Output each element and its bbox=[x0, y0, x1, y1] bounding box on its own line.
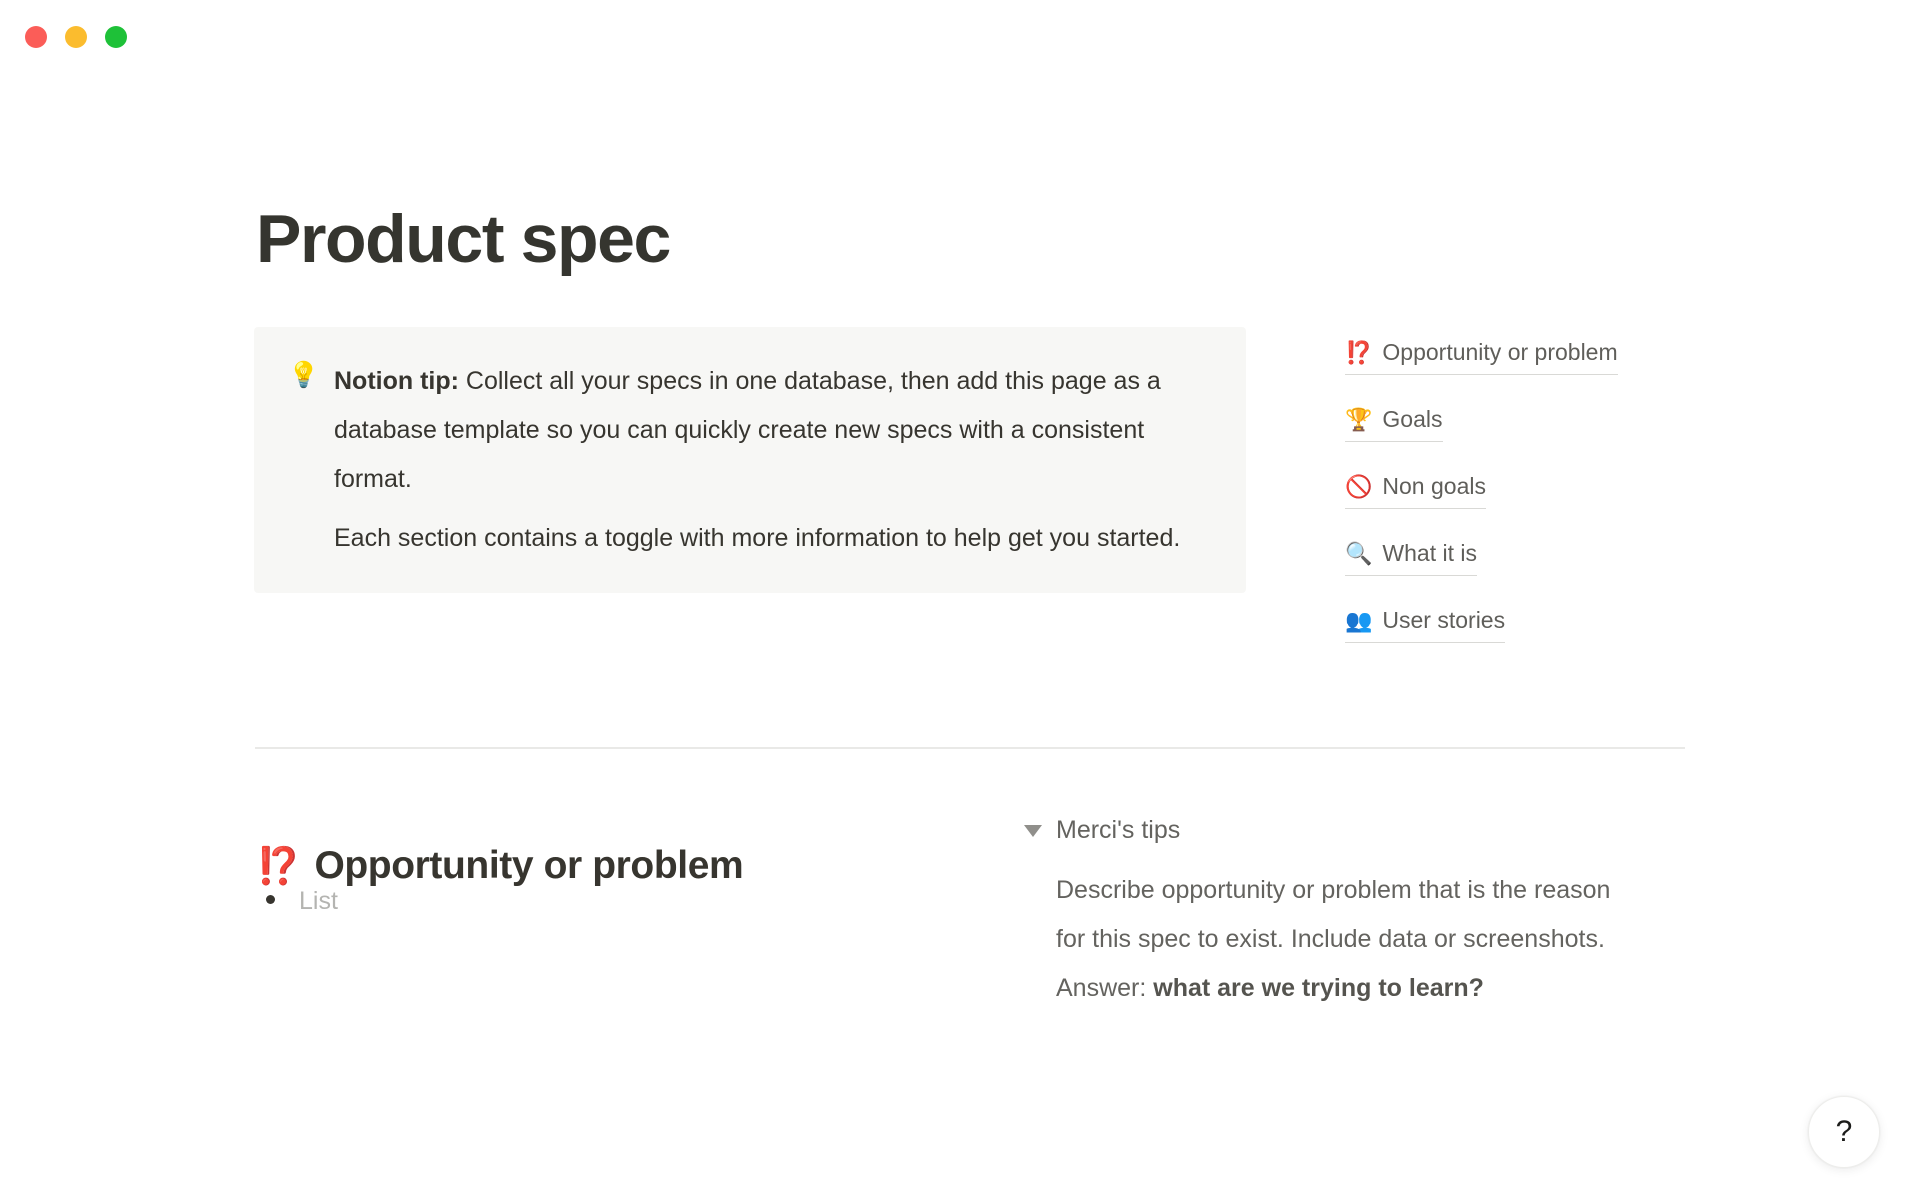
toc-item-opportunity-or-problem[interactable]: ⁉️Opportunity or problem bbox=[1345, 336, 1618, 375]
toggle-block-mercis-tips: Merci's tips Describe opportunity or pro… bbox=[1022, 812, 1622, 1013]
bulleted-list-item[interactable]: List bbox=[266, 884, 338, 918]
list-item-placeholder[interactable]: List bbox=[299, 884, 338, 918]
busts-in-silhouette-icon: 👥 bbox=[1345, 608, 1372, 633]
prohibited-icon: 🚫 bbox=[1345, 474, 1372, 499]
page-title[interactable]: Product spec bbox=[256, 198, 670, 280]
toc-item-label: Goals bbox=[1382, 406, 1442, 432]
toc-item-label: What it is bbox=[1382, 540, 1477, 566]
toggle-title: Merci's tips bbox=[1056, 812, 1180, 848]
toggle-paragraph: Describe opportunity or problem that is … bbox=[1056, 866, 1622, 1013]
toc-item-label: Opportunity or problem bbox=[1382, 339, 1617, 365]
notion-tip-callout[interactable]: 💡 Notion tip: Collect all your specs in … bbox=[254, 327, 1246, 593]
toc-item-what-it-is[interactable]: 🔍What it is bbox=[1345, 537, 1477, 576]
magnifying-glass-icon: 🔍 bbox=[1345, 541, 1372, 566]
window-titlebar bbox=[0, 0, 1920, 70]
traffic-lights bbox=[25, 26, 127, 48]
callout-body: Notion tip: Collect all your specs in on… bbox=[332, 357, 1212, 563]
light-bulb-icon: 💡 bbox=[288, 357, 332, 393]
section-heading-label: Opportunity or problem bbox=[314, 844, 743, 887]
toggle-paragraph-emphasis: what are we trying to learn? bbox=[1153, 974, 1484, 1002]
close-window-button[interactable] bbox=[25, 26, 47, 48]
callout-paragraph-1: Notion tip: Collect all your specs in on… bbox=[334, 357, 1212, 504]
toggle-header[interactable]: Merci's tips bbox=[1022, 812, 1622, 848]
callout-paragraph-2: Each section contains a toggle with more… bbox=[334, 514, 1212, 563]
bullet-icon bbox=[266, 895, 275, 904]
toggle-content: Describe opportunity or problem that is … bbox=[1056, 866, 1622, 1013]
chevron-down-icon[interactable] bbox=[1022, 823, 1044, 839]
toc-item-label: User stories bbox=[1382, 607, 1505, 633]
callout-lead-label: Notion tip: bbox=[334, 367, 459, 395]
toc-item-user-stories[interactable]: 👥User stories bbox=[1345, 604, 1505, 643]
callout-paragraph-1-text: Collect all your specs in one database, … bbox=[334, 367, 1161, 493]
notion-page: Product spec 💡 Notion tip: Collect all y… bbox=[0, 0, 1920, 1200]
toc-item-non-goals[interactable]: 🚫Non goals bbox=[1345, 470, 1486, 509]
toc-item-label: Non goals bbox=[1382, 473, 1486, 499]
maximize-window-button[interactable] bbox=[105, 26, 127, 48]
exclamation-question-icon: ⁉️ bbox=[256, 845, 300, 886]
toc-item-goals[interactable]: 🏆Goals bbox=[1345, 403, 1443, 442]
table-of-contents: ⁉️Opportunity or problem 🏆Goals 🚫Non goa… bbox=[1345, 336, 1685, 671]
minimize-window-button[interactable] bbox=[65, 26, 87, 48]
exclamation-question-icon: ⁉️ bbox=[1345, 340, 1372, 365]
trophy-icon: 🏆 bbox=[1345, 407, 1372, 432]
section-divider bbox=[255, 747, 1685, 749]
help-button[interactable]: ? bbox=[1808, 1096, 1880, 1168]
